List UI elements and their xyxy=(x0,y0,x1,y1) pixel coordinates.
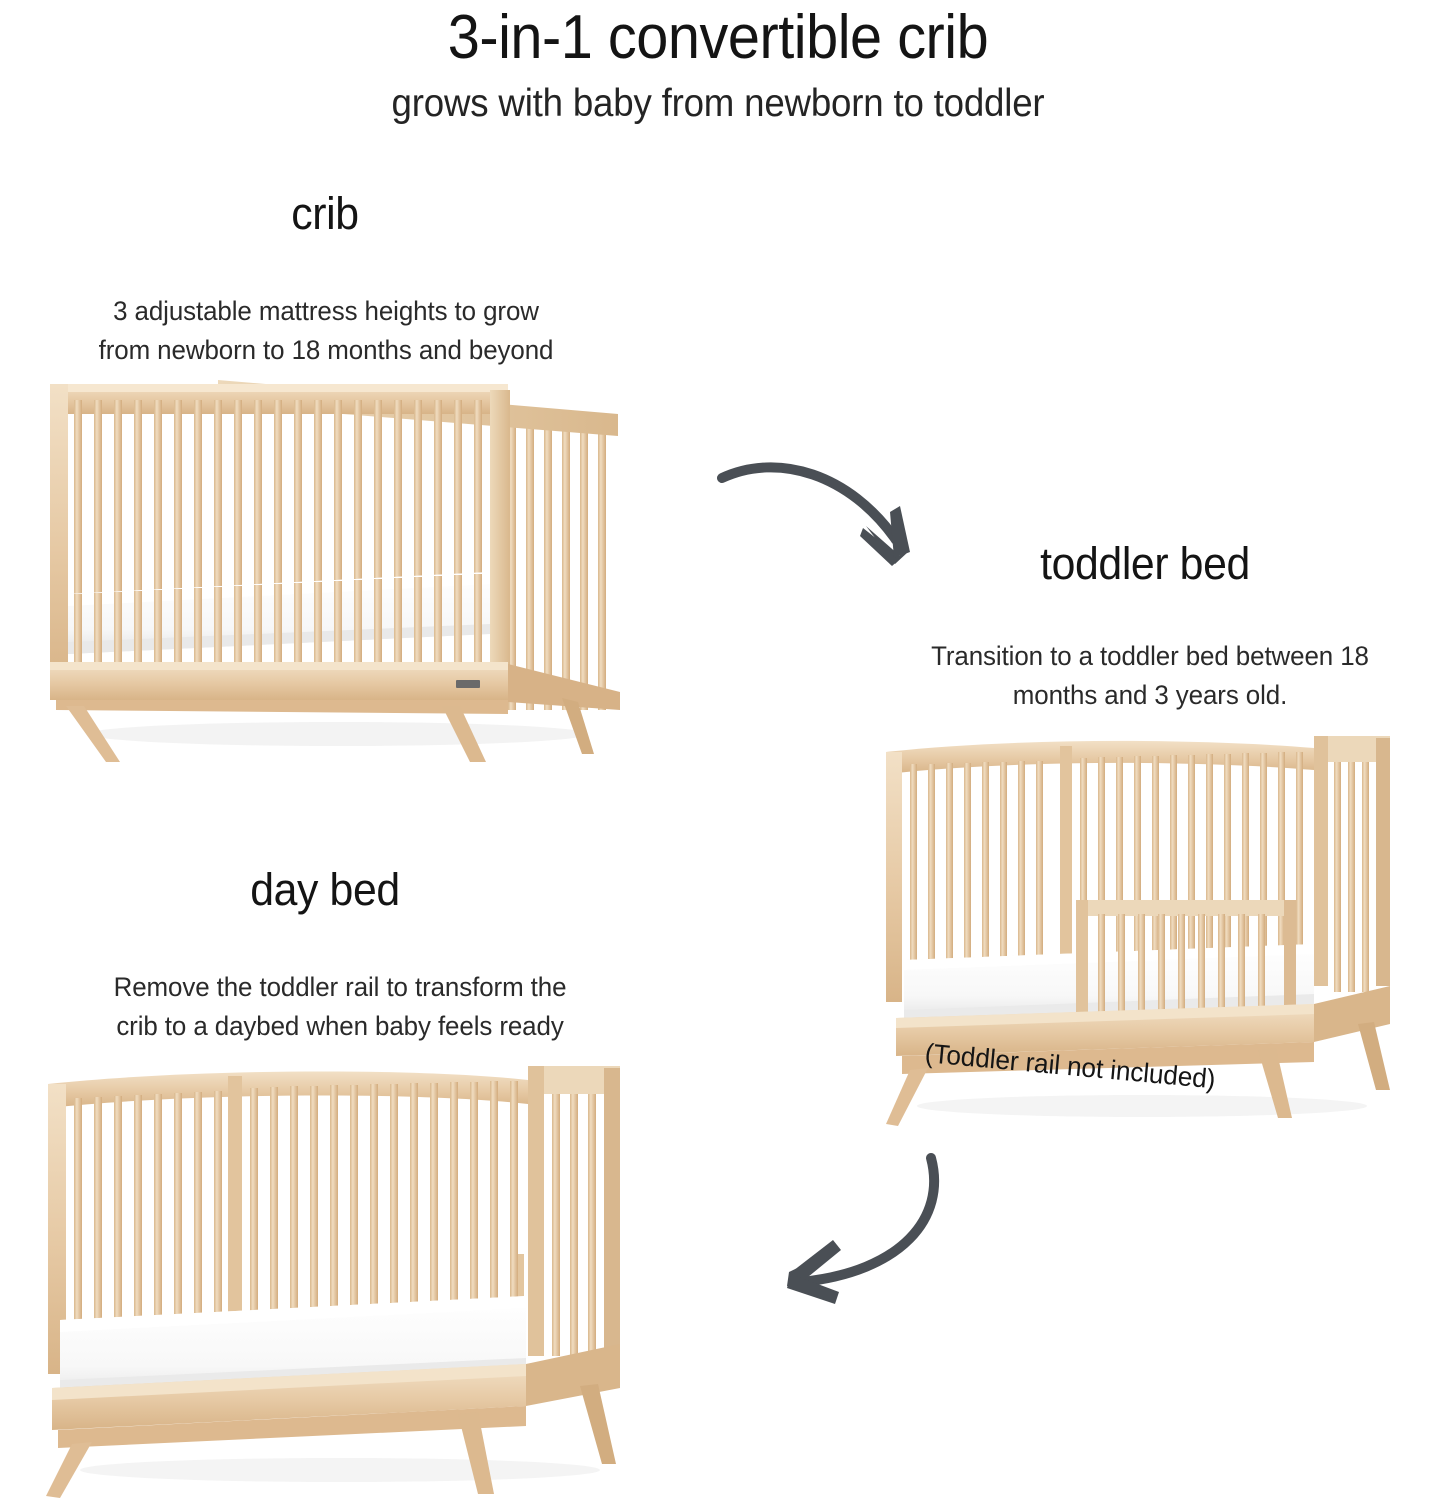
toddler-right-post-far xyxy=(1376,738,1390,986)
day-right-end-slats xyxy=(552,1094,596,1356)
day-body-line-2: crib to a daybed when baby feels ready xyxy=(42,1007,637,1046)
section-heading-crib: crib xyxy=(116,188,534,240)
toddler-right-post xyxy=(1314,736,1328,986)
crib-base-shadow xyxy=(56,700,508,714)
day-bed-image xyxy=(20,1058,660,1500)
day-leg-back-right xyxy=(580,1384,616,1464)
toddler-left-post xyxy=(886,752,902,1002)
day-right-post-far xyxy=(604,1068,620,1356)
day-body-line-1: Remove the toddler rail to transform the xyxy=(42,968,637,1007)
toddler-right-end-slats xyxy=(1334,762,1369,992)
section-body-day-bed: Remove the toddler rail to transform the… xyxy=(42,968,637,1046)
infographic-canvas: 3-in-1 convertible crib grows with baby … xyxy=(0,0,1436,1500)
section-heading-day-bed: day bed xyxy=(59,864,591,916)
toddler-body-line-2: months and 3 years old. xyxy=(900,676,1399,715)
toddler-leg-back-right xyxy=(1358,1022,1390,1090)
crib-post-left xyxy=(50,384,68,684)
toddler-leg-front-left xyxy=(886,1068,928,1126)
crib-image xyxy=(38,362,638,762)
toddler-floor-shadow xyxy=(917,1095,1367,1117)
toddler-body-line-1: Transition to a toddler bed between 18 xyxy=(900,637,1399,676)
page-title: 3-in-1 convertible crib xyxy=(50,2,1385,73)
crib-body-line-1: 3 adjustable mattress heights to grow xyxy=(50,292,603,331)
section-body-toddler-bed: Transition to a toddler bed between 18 m… xyxy=(900,637,1399,715)
day-right-post xyxy=(528,1066,544,1356)
section-body-crib: 3 adjustable mattress heights to grow fr… xyxy=(50,292,603,370)
day-floor-shadow xyxy=(80,1458,600,1482)
crib-post-right xyxy=(490,390,510,690)
crib-brand-plate xyxy=(456,680,480,688)
page-subtitle: grows with baby from newborn to toddler xyxy=(43,82,1393,126)
section-heading-toddler-bed: toddler bed xyxy=(917,538,1373,590)
arrow-toddler-to-daybed-icon xyxy=(735,1140,985,1325)
toddler-lower-rail-side xyxy=(1314,986,1390,1042)
crib-floor-shadow xyxy=(88,722,588,746)
